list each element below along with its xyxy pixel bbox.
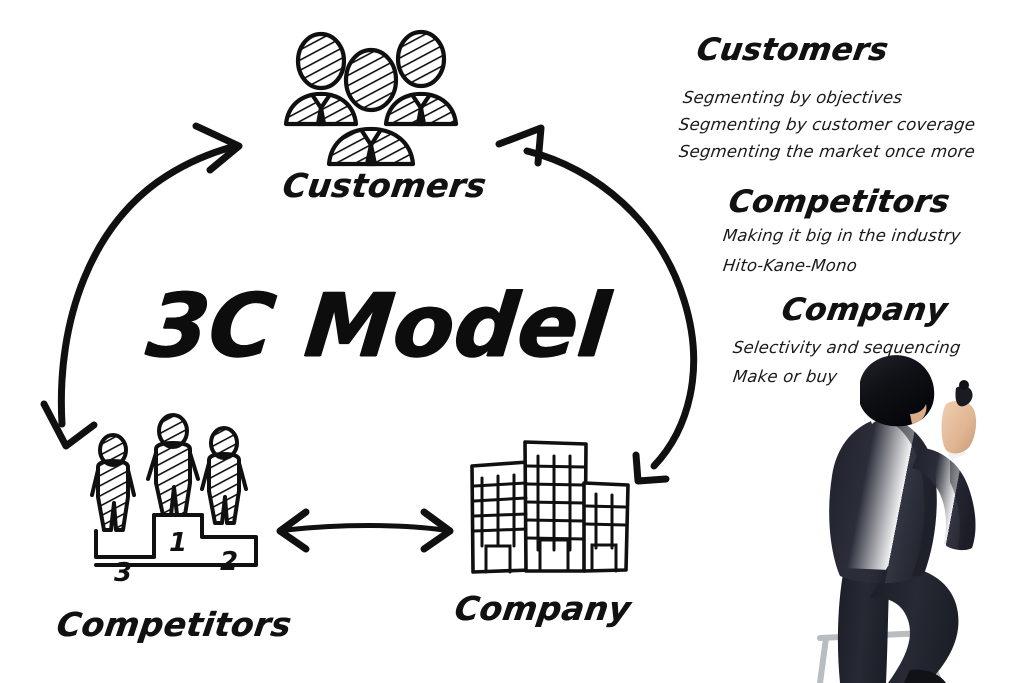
node-label-competitors: Competitors xyxy=(54,605,294,644)
node-label-customers: Customers xyxy=(280,166,488,205)
arrow-competitors-company xyxy=(280,512,450,549)
people-group-icon xyxy=(282,28,462,168)
section-item: Segmenting by objectives xyxy=(682,88,904,107)
businessman-writing-photo xyxy=(800,352,1024,683)
node-label-company: Company xyxy=(452,589,633,628)
podium-place-1: 1 xyxy=(169,528,187,558)
section-item: Segmenting by customer coverage xyxy=(678,115,977,134)
section-heading-company: Company xyxy=(779,292,950,328)
podium-place-2: 2 xyxy=(220,547,238,577)
office-buildings-icon xyxy=(468,428,633,578)
section-item: Making it big in the industry xyxy=(722,226,962,245)
podium-place-3: 3 xyxy=(114,558,132,588)
page-title: 3C Model xyxy=(143,282,614,370)
section-heading-competitors: Competitors xyxy=(726,184,952,220)
section-item: Segmenting the market once more xyxy=(678,142,976,161)
podium-winners-icon: 3 1 2 xyxy=(78,415,268,590)
section-heading-customers: Customers xyxy=(694,32,891,68)
section-item: Hito-Kane-Mono xyxy=(722,256,858,275)
hand-holding-marker xyxy=(942,401,977,454)
diagram-canvas: 3 1 2 3C Mo xyxy=(0,0,1024,683)
